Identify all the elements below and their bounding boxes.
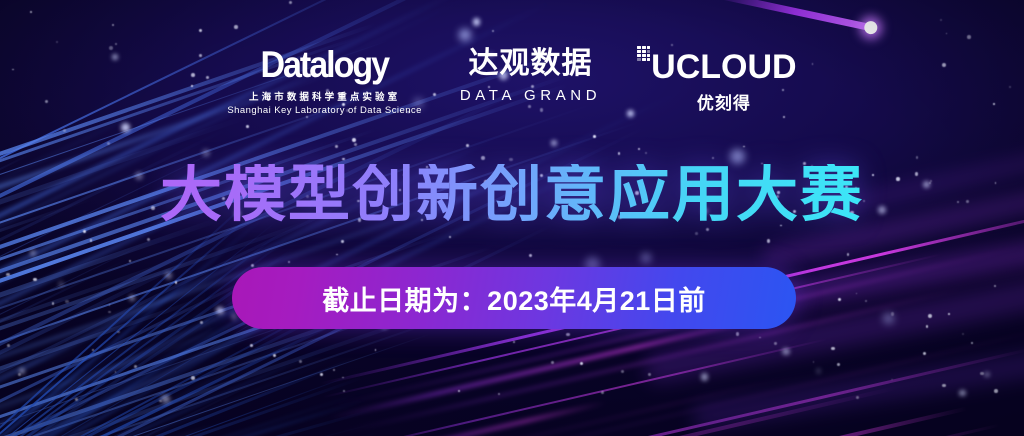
logo-ucloud-cn-name: 优刻得: [639, 89, 796, 114]
dot: [647, 50, 651, 53]
dot: [637, 50, 641, 53]
logo-datalogy-cn-name: 上海市数据科学重点实验室: [227, 89, 421, 103]
page-title: 大模型创新创意应用大赛: [0, 164, 1024, 226]
partner-logos: Datalogy 上海市数据科学重点实验室 Shanghai Key Labor…: [0, 46, 1024, 116]
logo-ucloud-wordmark: UCLOUD: [639, 50, 796, 84]
deadline-badge: 截止日期为：2023年4月21日前: [232, 267, 796, 329]
logo-data-grand-cn-name: 达观数据: [460, 48, 601, 80]
dot: [637, 54, 641, 57]
logo-datalogy-en-name: Shanghai Key Laboratory of Data Science: [227, 105, 421, 116]
event-banner: Datalogy 上海市数据科学重点实验室 Shanghai Key Labor…: [0, 0, 1024, 436]
logo-data-grand-en-name: DATA GRAND: [460, 87, 601, 104]
deadline-text: 截止日期为：2023年4月21日前: [322, 279, 706, 318]
logo-data-grand: 达观数据 DATA GRAND: [460, 46, 601, 104]
logo-ucloud: UCLOUD 优刻得: [639, 46, 796, 114]
dot: [647, 46, 651, 49]
dot: [647, 58, 651, 61]
dot: [642, 50, 646, 53]
dot: [647, 54, 651, 57]
dot: [642, 54, 646, 57]
ucloud-dot-matrix-icon: [637, 46, 650, 61]
dot: [642, 58, 646, 61]
logo-datalogy: Datalogy 上海市数据科学重点实验室 Shanghai Key Labor…: [227, 46, 421, 116]
logo-datalogy-wordmark: Datalogy: [235, 46, 414, 83]
dot: [637, 58, 641, 61]
dot: [642, 46, 646, 49]
dot: [637, 46, 641, 49]
